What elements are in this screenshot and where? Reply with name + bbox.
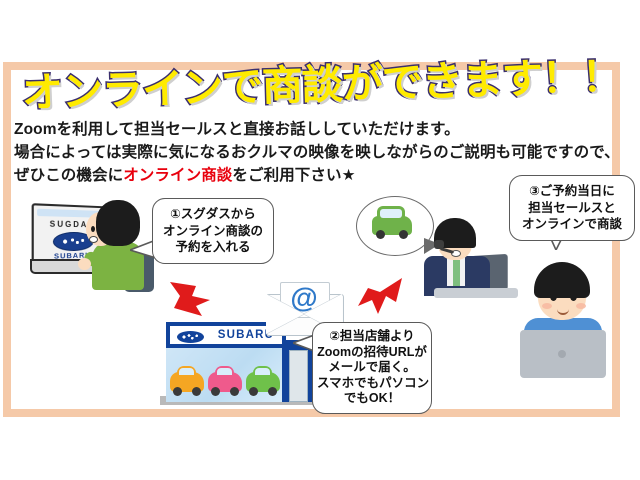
showroom-car <box>208 372 242 392</box>
customer-cheek <box>576 303 586 309</box>
step-1-line-2: オンライン商談の <box>157 223 269 240</box>
customer-laptop-logo <box>558 350 566 358</box>
step-2-line-4: スマホでもパソコン <box>317 376 427 392</box>
customer-eye <box>570 292 577 301</box>
customer-eye <box>550 292 557 301</box>
step-2-bubble: ②担当店舗より Zoomの招待URLが メールで届く。 スマホでもパソコン でも… <box>312 322 432 414</box>
banner-root: オンラインで商談ができます！！ Zoomを利用して担当セールスと直接お話ししてい… <box>0 0 640 480</box>
step-2-line-2: Zoomの招待URLが <box>317 345 427 361</box>
arrow-up-right-icon <box>356 276 408 322</box>
step-1-line-1: ①スグダスから <box>157 206 269 223</box>
arrow-down-right-icon <box>166 278 222 322</box>
salesman-eye <box>446 240 451 246</box>
step-2-line-1: ②担当店舗より <box>317 329 427 345</box>
step-3-line-3: オンラインで商談 <box>514 216 630 233</box>
person-left-mouth <box>89 236 98 243</box>
customer-cheek <box>542 303 552 309</box>
cta-suffix: をご利用下さい★ <box>232 167 355 184</box>
body-line-1: Zoomを利用して担当セールスと直接お話ししていただけます。 <box>14 118 614 141</box>
step-2-line-5: でもOK！ <box>317 391 427 407</box>
step-3-line-1: ③ご予約当日に <box>514 183 630 200</box>
step-3-line-2: 担当セールスと <box>514 200 630 217</box>
step-2-line-3: メールで届く。 <box>317 360 427 376</box>
salesman-tie <box>453 260 460 286</box>
showroom-car <box>246 372 280 392</box>
dealership-door <box>289 350 308 402</box>
step-1-line-3: 予約を入れる <box>157 239 269 256</box>
salesman-eye <box>459 240 464 246</box>
body-line-2: 場合によっては実際に気になるおクルマの映像を映しながらのご説明も可能ですので、 <box>14 141 614 164</box>
subaru-logo-icon <box>177 331 204 343</box>
cta-prefix: ぜひこの機会に <box>14 167 123 184</box>
person-left-eye <box>91 226 95 232</box>
envelope-flap-left <box>266 294 304 334</box>
step-3-bubble: ③ご予約当日に 担当セールスと オンラインで商談 <box>509 175 635 241</box>
person-left-hand <box>78 258 91 270</box>
step-1-bubble: ①スグダスから オンライン商談の 予約を入れる <box>152 198 274 264</box>
green-car-icon <box>372 216 412 235</box>
salesman-desk <box>434 288 518 298</box>
cta-highlight: オンライン商談 <box>123 167 232 184</box>
showroom-car <box>170 372 204 392</box>
